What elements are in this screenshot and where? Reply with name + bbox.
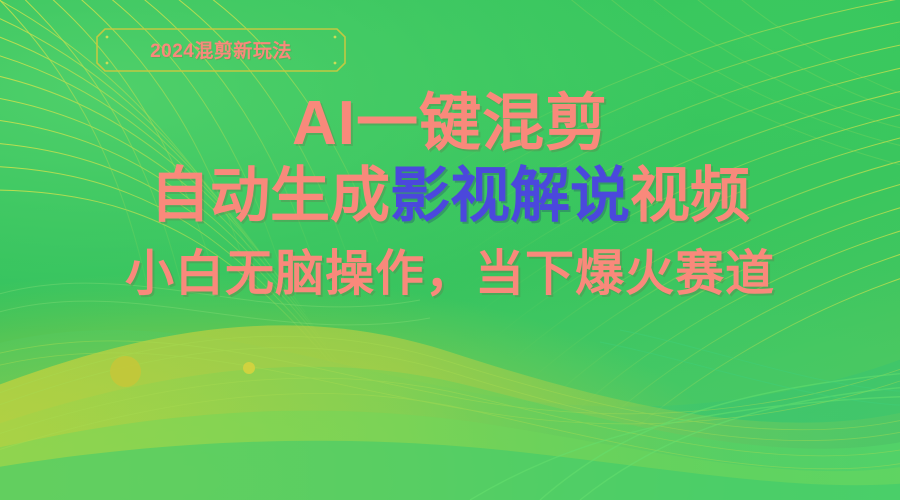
- headline-line-1: AI一键混剪: [0, 92, 900, 155]
- headline-line-3: 小白无脑操作，当下爆火赛道: [0, 250, 900, 300]
- headline-line-2-suffix: 视频: [630, 162, 750, 229]
- headline-line-2: 自动生成影视解说视频: [0, 165, 900, 226]
- yellow-circle-large-icon: [110, 356, 141, 387]
- headline-block: AI一键混剪 自动生成影视解说视频 小白无脑操作，当下爆火赛道: [0, 92, 900, 300]
- yellow-circle-small-icon: [243, 362, 255, 374]
- badge-label: 2024混剪新玩法: [150, 36, 292, 65]
- promo-badge: 2024混剪新玩法: [96, 28, 346, 72]
- headline-line-2-prefix: 自动生成: [150, 162, 390, 229]
- poster-canvas: 2024混剪新玩法 AI一键混剪 自动生成影视解说视频 小白无脑操作，当下爆火赛…: [0, 0, 900, 500]
- headline-line-2-highlight: 影视解说: [390, 162, 630, 229]
